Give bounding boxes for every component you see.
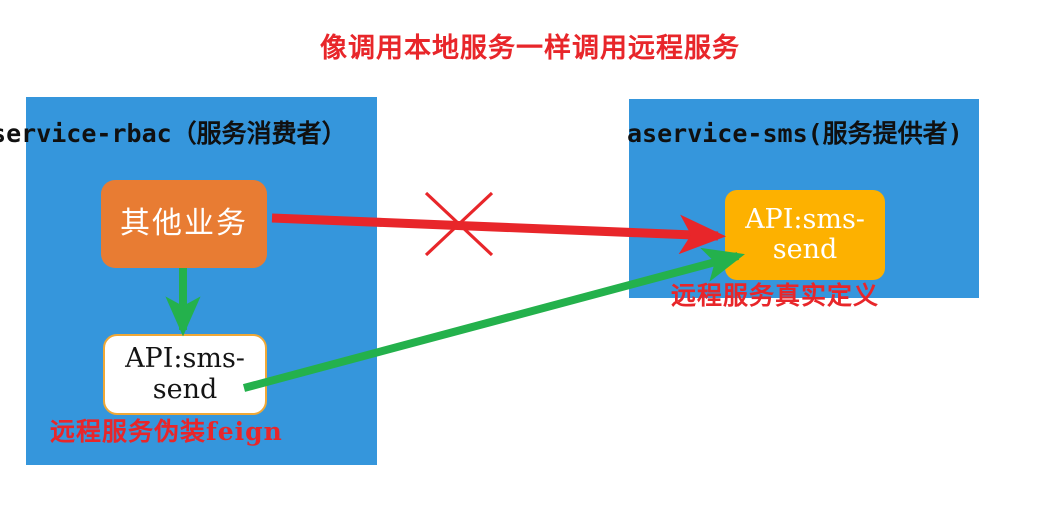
caption-real-definition: 远程服务真实定义 — [671, 276, 879, 312]
diagram-canvas: 像调用本地服务一样调用远程服务 aservice-rbac（服务消费者） ase… — [0, 0, 1060, 510]
page-title: 像调用本地服务一样调用远程服务 — [0, 26, 1060, 65]
node-remote-api[interactable]: API:sms-send — [725, 190, 885, 280]
node-other-business[interactable]: 其他业务 — [101, 180, 267, 268]
caption-feign: 远程服务伪装feign — [50, 412, 283, 448]
panel-provider-label: aservice-sms(服务提供者) — [627, 114, 963, 150]
x-cross-icon — [426, 193, 492, 255]
node-feign-api[interactable]: API:sms-send — [103, 334, 267, 415]
panel-consumer-label: aservice-rbac（服务消费者） — [0, 114, 347, 150]
